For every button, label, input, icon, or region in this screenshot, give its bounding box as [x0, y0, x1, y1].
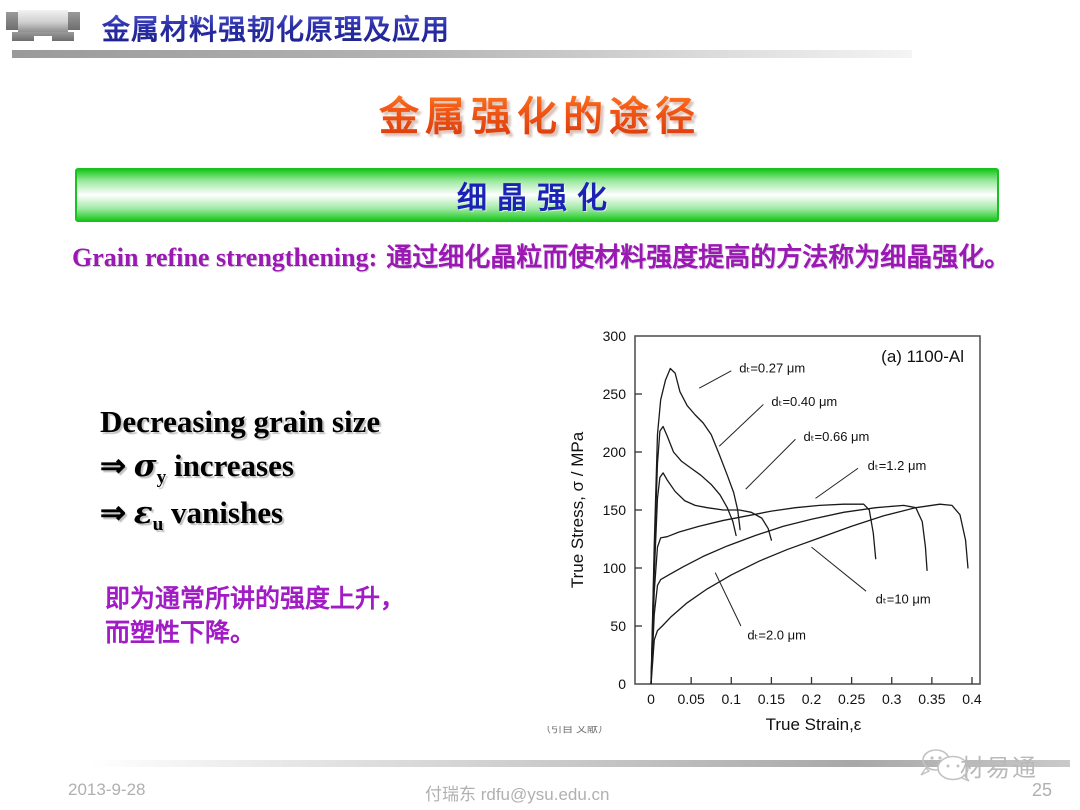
body-line-2-suffix: increases [166, 448, 294, 483]
summary-note-line-1: 即为通常所讲的强度上升， [105, 582, 505, 616]
x-tick-label: 0.4 [962, 691, 982, 707]
wechat-brand-label: 材易通 [960, 748, 1038, 783]
header-divider [12, 50, 912, 58]
x-tick-label: 0.2 [802, 691, 822, 707]
x-tick-label: 0 [647, 691, 655, 707]
clipped-caption: （引自 文献） [540, 726, 740, 736]
body-line-2: ⇒ σy increases [100, 444, 520, 491]
arrow-glyph: ⇒ [100, 495, 134, 530]
sigma-subscript: y [157, 467, 167, 488]
series-annotation-label: dₜ=10 μm [876, 591, 931, 606]
body-line-3: ⇒ εu vanishes [100, 491, 520, 538]
x-tick-label: 0.35 [918, 691, 945, 707]
epsilon-symbol: ε [134, 495, 153, 531]
summary-note-line-2: 而塑性下降。 [105, 616, 505, 650]
definition-chinese: 通过细化晶粒而使材料强度提高的方法称为细晶强化。 [377, 243, 1010, 273]
section-banner-label: 细晶强化 [457, 173, 617, 217]
epsilon-subscript: u [153, 515, 164, 536]
body-line-1: Decreasing grain size [100, 400, 520, 444]
section-banner: 细晶强化 [75, 168, 999, 222]
body-text-block: Decreasing grain size ⇒ σy increases ⇒ ε… [100, 400, 520, 539]
y-axis-label: True Stress, σ / MPa [568, 431, 587, 588]
summary-note: 即为通常所讲的强度上升， 而塑性下降。 [105, 582, 505, 650]
sigma-symbol: σ [134, 448, 157, 484]
footer-page-number: 25 [1032, 780, 1052, 801]
arrow-glyph: ⇒ [100, 448, 134, 483]
y-tick-label: 200 [603, 444, 627, 460]
definition-paragraph: Grain refine strengthening: 通过细化晶粒而使材料强度… [72, 240, 1032, 276]
chart-canvas: 05010015020025030000.050.10.150.20.250.3… [528, 320, 1008, 740]
chart-title: (a) 1100-Al [881, 347, 964, 366]
y-tick-label: 100 [603, 560, 627, 576]
y-tick-label: 50 [610, 618, 626, 634]
series-annotation-label: dₜ=0.27 μm [739, 360, 805, 375]
page-title: 金属强化的途径 [0, 84, 1080, 142]
x-tick-label: 0.05 [678, 691, 705, 707]
definition-english: Grain refine strengthening: [72, 243, 377, 272]
ribbon-logo [4, 8, 82, 46]
y-tick-label: 150 [603, 502, 627, 518]
series-annotation-label: dₜ=1.2 μm [868, 458, 927, 473]
footer-date: 2013-9-28 [68, 780, 146, 800]
header-title: 金属材料强韧化原理及应用 [102, 8, 450, 48]
x-tick-label: 0.3 [882, 691, 902, 707]
series-annotation-label: dₜ=0.40 μm [771, 394, 837, 409]
x-tick-label: 0.1 [722, 691, 742, 707]
y-tick-label: 0 [618, 676, 626, 692]
body-line-3-suffix: vanishes [163, 495, 283, 530]
x-axis-label: True Strain,ε [766, 715, 862, 734]
footer-author: 付瑞东 rdfu@ysu.edu.cn [425, 780, 610, 805]
series-annotation-label: dₜ=0.66 μm [803, 429, 869, 444]
y-tick-label: 300 [603, 328, 627, 344]
x-tick-label: 0.25 [838, 691, 865, 707]
stress-strain-chart: 05010015020025030000.050.10.150.20.250.3… [528, 320, 1008, 740]
x-tick-label: 0.15 [758, 691, 785, 707]
y-tick-label: 250 [603, 386, 627, 402]
slide-header: 金属材料强韧化原理及应用 [0, 0, 1080, 56]
series-annotation-label: dₜ=2.0 μm [747, 627, 806, 642]
